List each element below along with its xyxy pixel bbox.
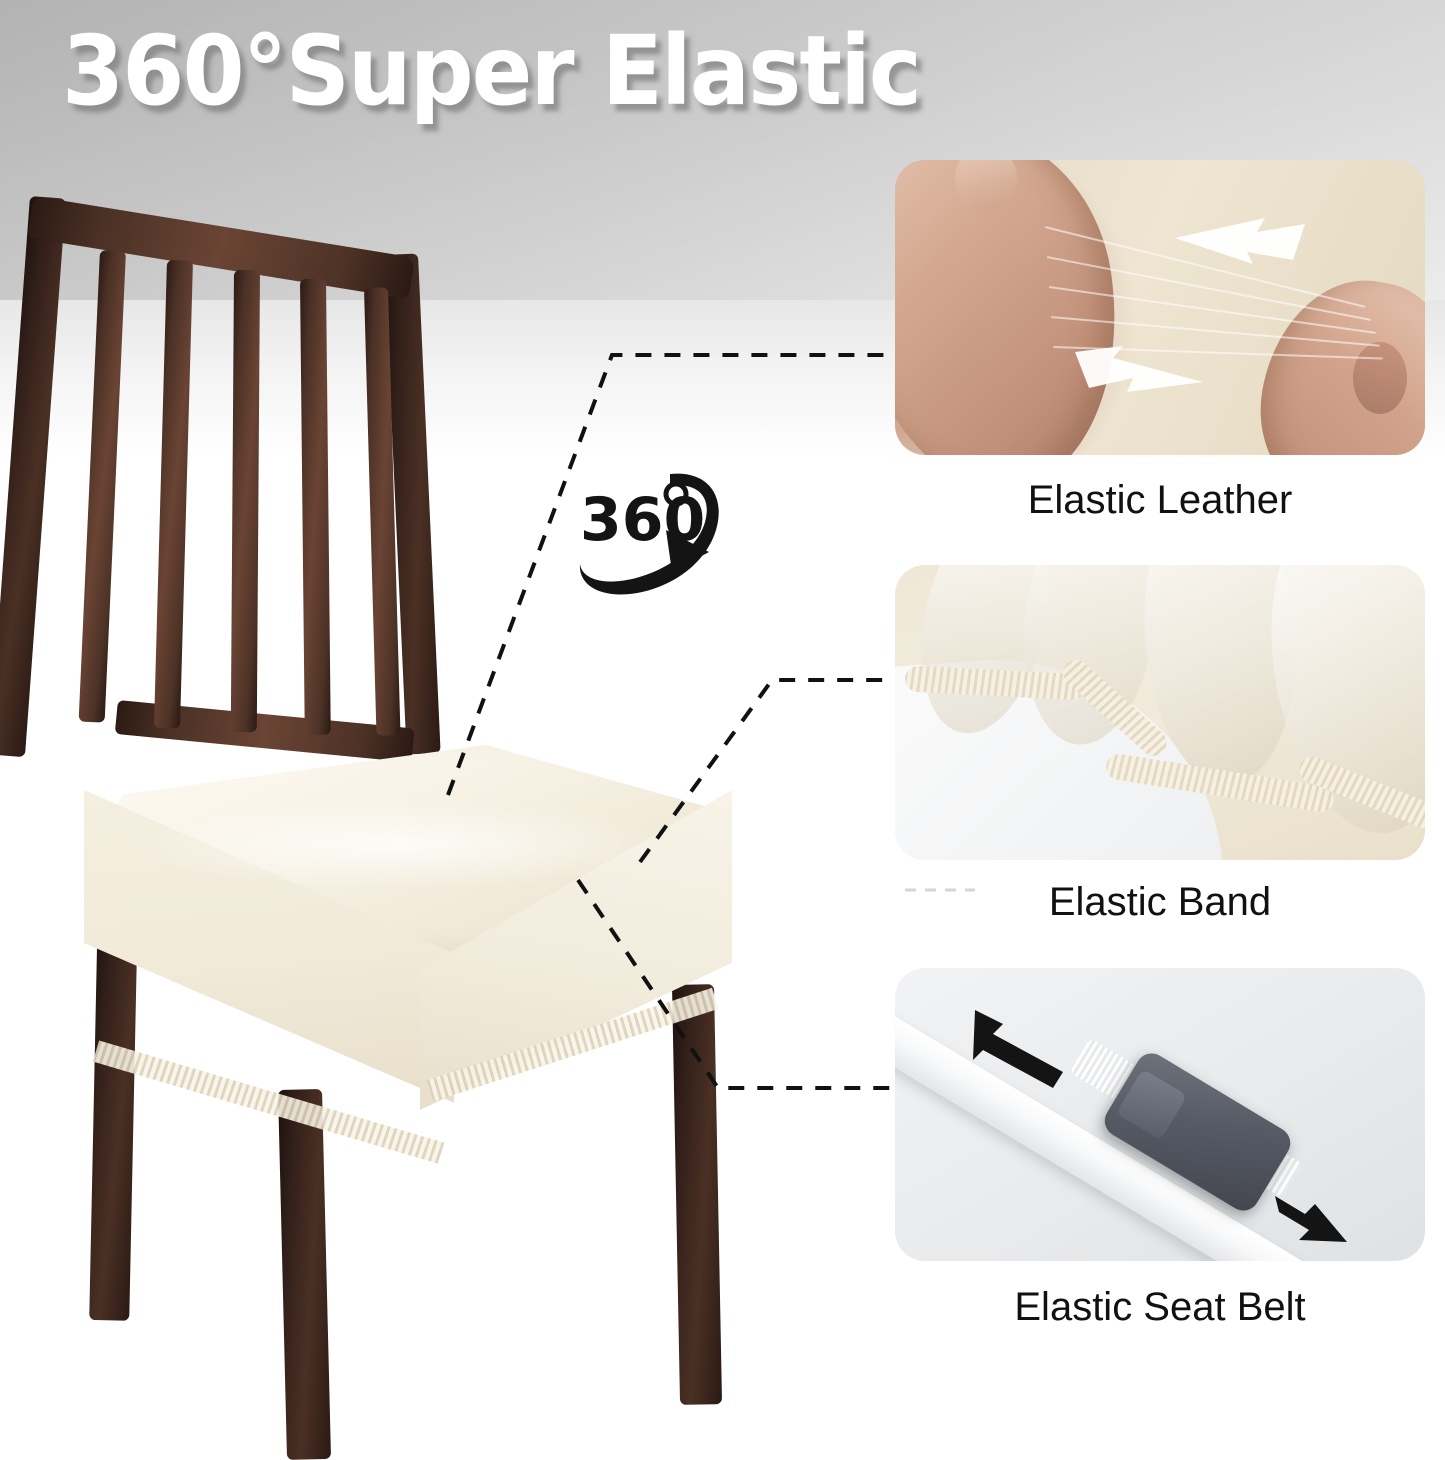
seat-cover-crease bbox=[130, 800, 670, 890]
chair-back-left-post bbox=[0, 196, 66, 757]
infographic-canvas: 360°Super Elastic bbox=[0, 0, 1445, 1445]
chair-slat bbox=[154, 260, 193, 729]
chair-leg-right bbox=[672, 984, 722, 1405]
feature-photo-elastic-band bbox=[895, 565, 1425, 860]
stretch-arrow-right bbox=[1175, 218, 1305, 264]
direction-arrow-up-left bbox=[973, 1010, 1063, 1088]
feature-photo-elastic-seat-belt bbox=[895, 968, 1425, 1261]
chair-top-rail bbox=[27, 196, 415, 299]
feature-photo-elastic-leather bbox=[895, 160, 1425, 455]
chair-slat bbox=[79, 250, 126, 723]
chair-leg-front bbox=[278, 1089, 331, 1460]
direction-arrow-down-right bbox=[1275, 1196, 1347, 1242]
chair-slat bbox=[231, 270, 260, 732]
chair-slat bbox=[300, 279, 331, 735]
360-degree-rotation-badge: 360 bbox=[566, 452, 736, 617]
feature-label-elastic-seat-belt: Elastic Seat Belt bbox=[895, 1285, 1425, 1330]
feature-label-elastic-leather: Elastic Leather bbox=[895, 478, 1425, 523]
product-chair-illustration bbox=[0, 0, 900, 1445]
feature-label-elastic-band: Elastic Band bbox=[895, 880, 1425, 925]
stretch-arrow-left bbox=[1075, 346, 1203, 392]
